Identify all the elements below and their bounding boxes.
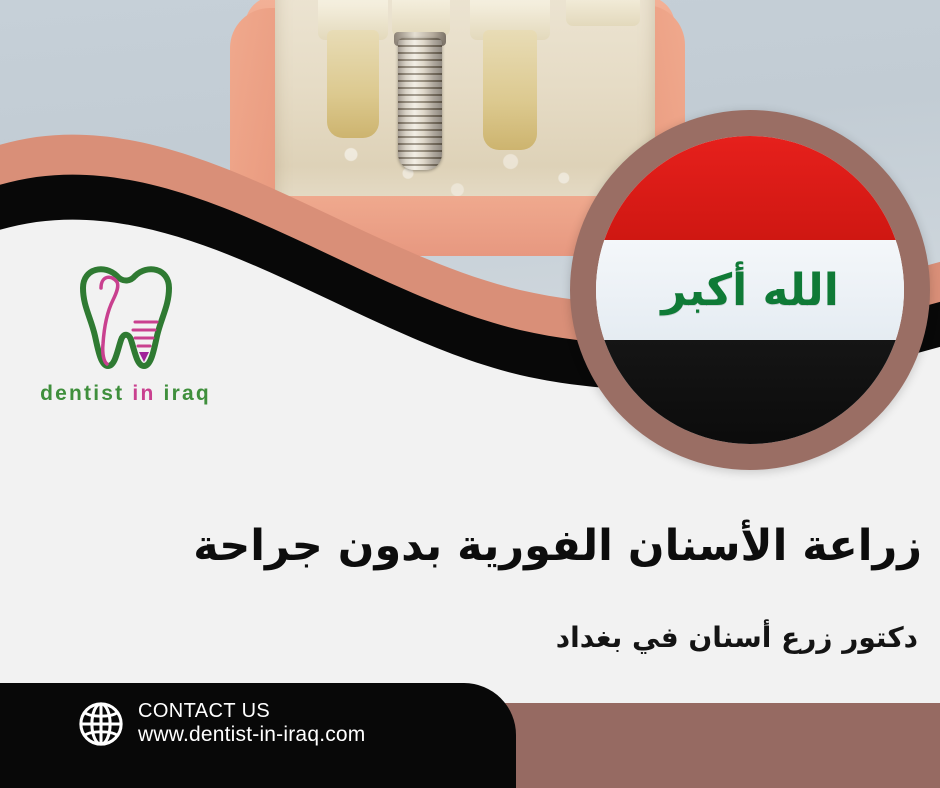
contact-title: CONTACT US bbox=[138, 700, 366, 723]
page-subtitle: دكتور زرع أسنان في بغداد bbox=[218, 620, 918, 656]
logo-word-in: in bbox=[132, 382, 155, 405]
logo-word-iraq: iraq bbox=[164, 382, 211, 405]
page-title: زراعة الأسنان الفورية بدون جراحة bbox=[182, 520, 922, 574]
contact-text: CONTACT US www.dentist-in-iraq.com bbox=[138, 700, 366, 748]
contact-url[interactable]: www.dentist-in-iraq.com bbox=[138, 723, 366, 747]
logo-word-dentist: dentist bbox=[40, 382, 124, 405]
tooth-with-implant-icon bbox=[61, 258, 191, 378]
contact-block[interactable]: CONTACT US www.dentist-in-iraq.com bbox=[78, 700, 366, 748]
flag-inner: الله أكبر bbox=[596, 136, 904, 444]
poster: الله أكبر dentist in iraq زراعة الأسنان … bbox=[0, 0, 940, 788]
brand-logo: dentist in iraq bbox=[18, 258, 233, 406]
logo-wordmark: dentist in iraq bbox=[18, 382, 233, 406]
iraq-flag-badge: الله أكبر bbox=[570, 110, 930, 470]
flag-takbir-text: الله أكبر bbox=[596, 240, 904, 340]
flag-stripe-black bbox=[596, 340, 904, 444]
flag-stripe-red bbox=[596, 136, 904, 240]
globe-icon bbox=[78, 701, 124, 747]
